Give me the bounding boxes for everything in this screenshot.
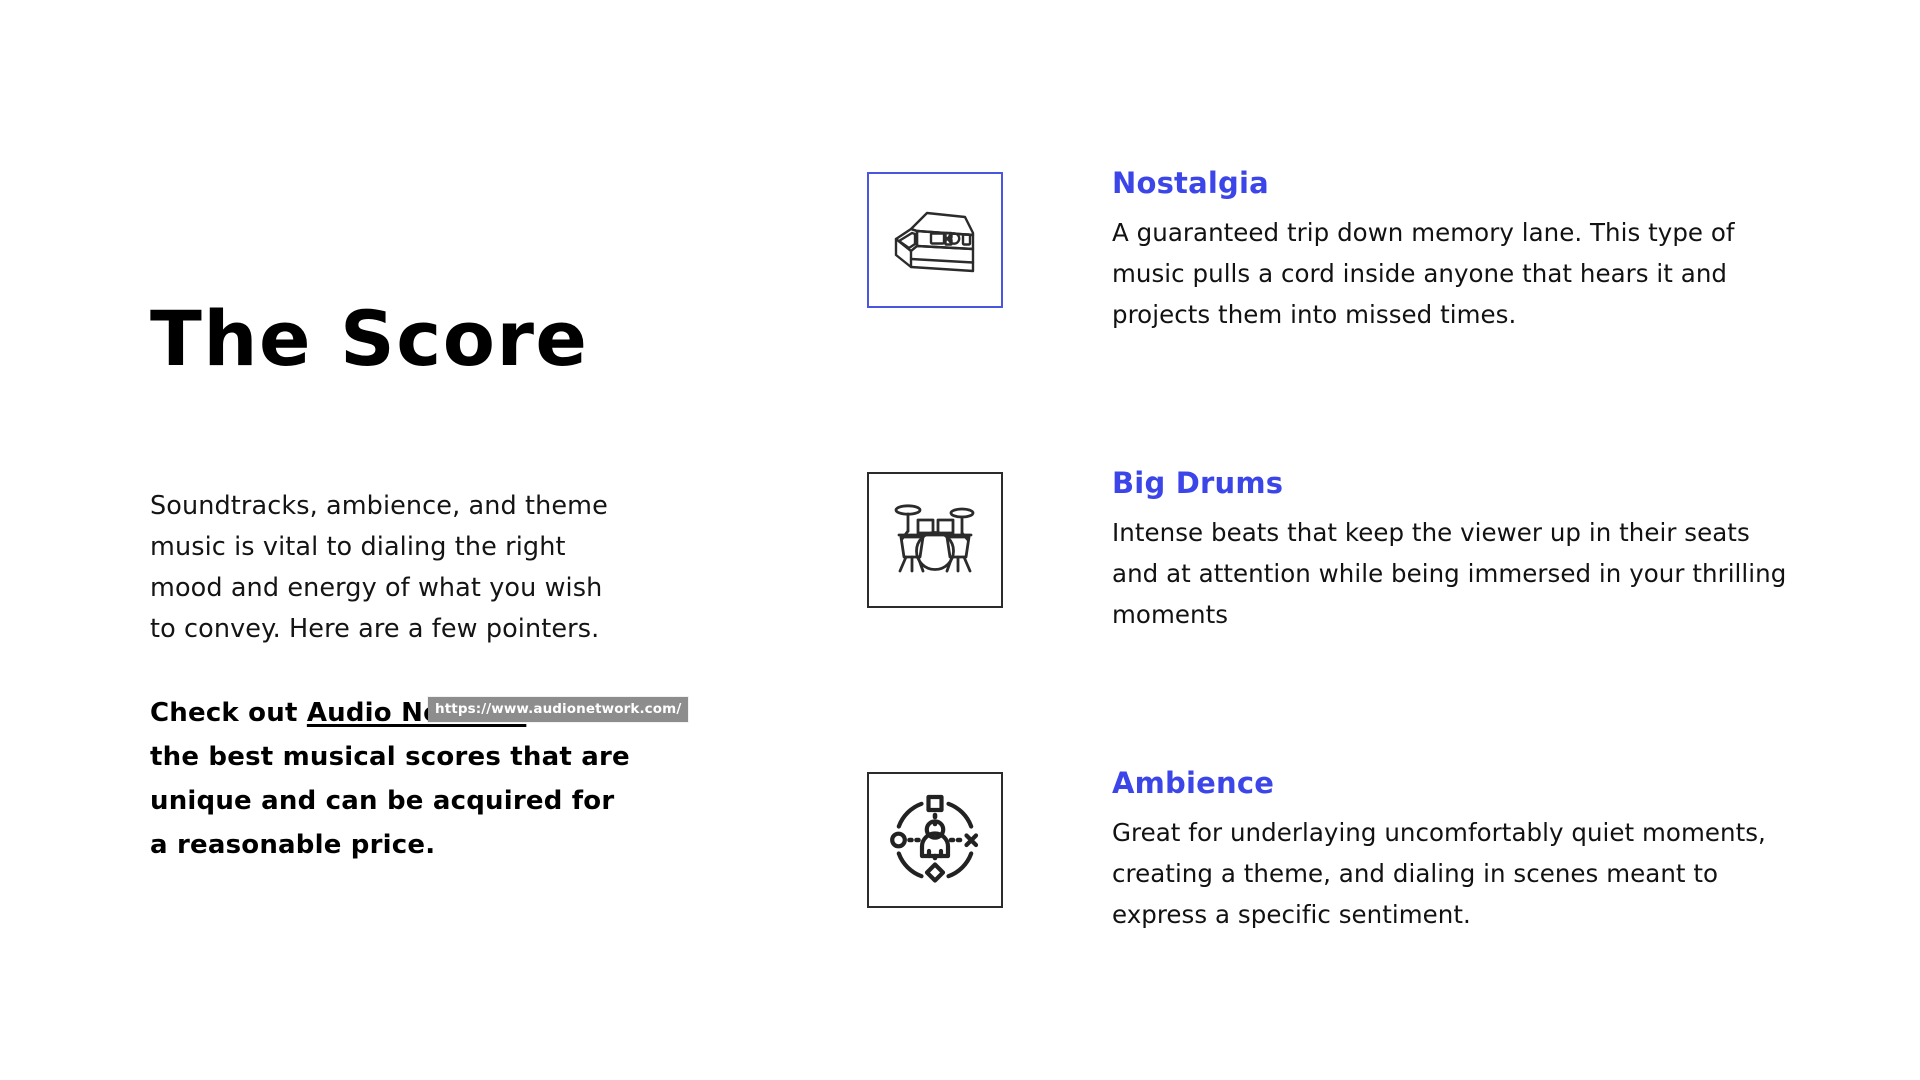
feature-body: Intense beats that keep the viewer up in… xyxy=(1112,512,1802,635)
link-url-tooltip: https://www.audionetwork.com/ xyxy=(428,697,688,722)
feature-row: Ambience Great for underlaying uncomfort… xyxy=(867,772,1807,952)
feature-text-block: Ambience Great for underlaying uncomfort… xyxy=(1112,766,1802,935)
icon-box-big-drums[interactable] xyxy=(867,472,1003,608)
feature-row: Big Drums Intense beats that keep the vi… xyxy=(867,472,1807,652)
slide-canvas: The Score Soundtracks, ambience, and the… xyxy=(0,0,1920,1080)
feature-heading: Big Drums xyxy=(1112,466,1802,500)
feature-body: Great for underlaying uncomfortably quie… xyxy=(1112,812,1802,935)
drum-kit-icon xyxy=(889,499,981,581)
cta-prefix-text: Check out xyxy=(150,698,307,728)
feature-text-block: Nostalgia A guaranteed trip down memory … xyxy=(1112,166,1802,335)
feature-text-block: Big Drums Intense beats that keep the vi… xyxy=(1112,466,1802,635)
feature-heading: Nostalgia xyxy=(1112,166,1802,200)
left-column: The Score Soundtracks, ambience, and the… xyxy=(150,0,670,1080)
feature-body: A guaranteed trip down memory lane. This… xyxy=(1112,212,1802,335)
icon-box-nostalgia[interactable] xyxy=(867,172,1003,308)
feature-row: Nostalgia A guaranteed trip down memory … xyxy=(867,172,1807,352)
instant-camera-icon xyxy=(887,201,983,279)
surround-ambience-icon xyxy=(889,794,981,886)
feature-heading: Ambience xyxy=(1112,766,1802,800)
icon-box-ambience[interactable] xyxy=(867,772,1003,908)
page-title: The Score xyxy=(150,301,588,377)
intro-paragraph: Soundtracks, ambience, and theme music i… xyxy=(150,486,620,650)
